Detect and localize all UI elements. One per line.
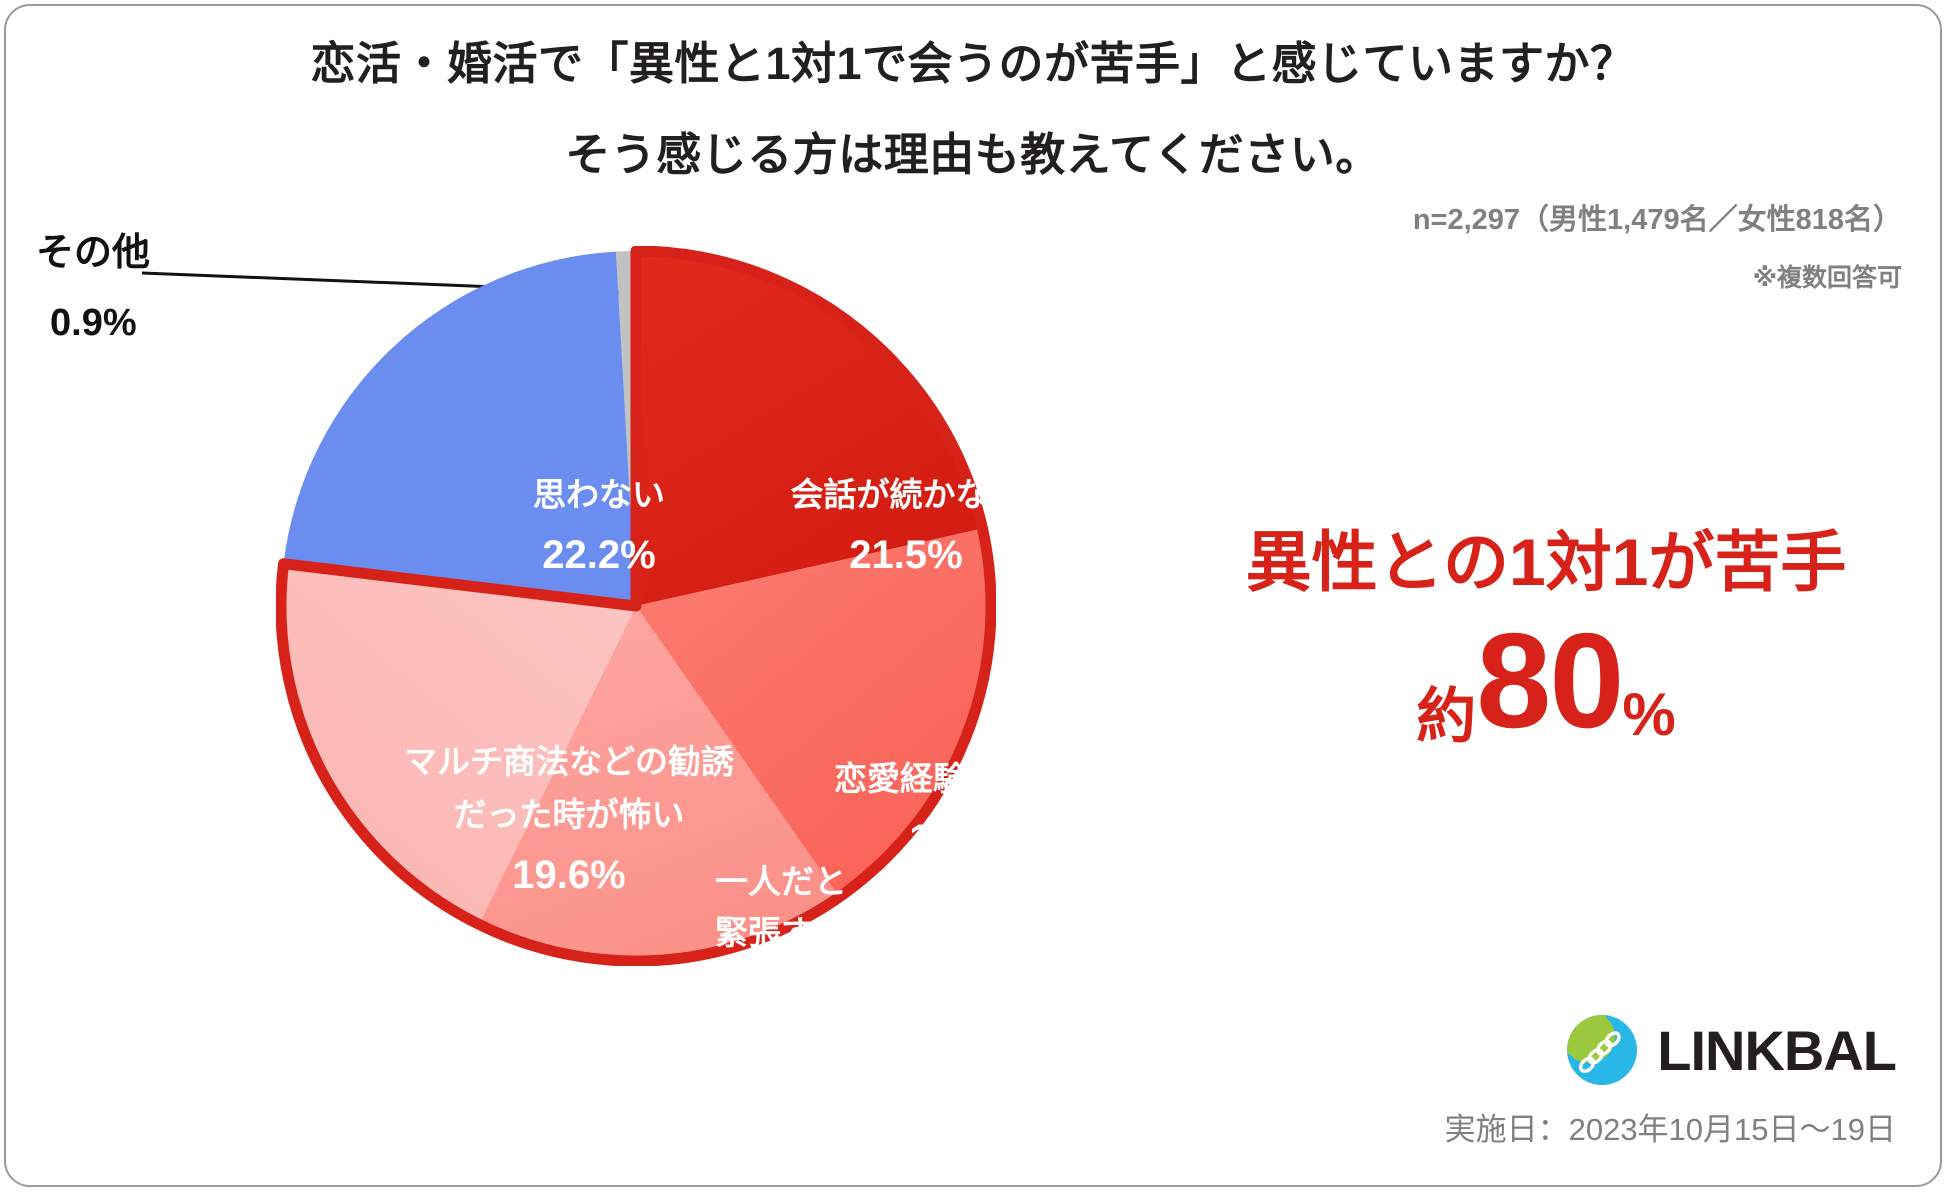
multiple-answer-note: ※複数回答可: [1753, 258, 1902, 294]
pie-slice-omowanai: [284, 252, 636, 606]
survey-date: 実施日：2023年10月15日～19日: [1445, 1104, 1896, 1149]
brand-logo: LINKBAL: [1565, 1013, 1896, 1087]
linkbal-globe-icon: [1565, 1013, 1639, 1087]
page-title: 恋活・婚活で「異性と1対1で会うのが苦手」と感じていますか？ そう感じる方は理由…: [6, 34, 1940, 186]
highlight-callout: 異性との1対1が苦手 約80%: [1146, 526, 1942, 748]
highlight-approx: 約: [1416, 683, 1476, 750]
highlight-callout-stat: 約80%: [1146, 613, 1942, 748]
brand-name: LINKBAL: [1657, 1018, 1896, 1083]
highlight-callout-headline: 異性との1対1が苦手: [1146, 526, 1942, 599]
pie-chart-svg: [276, 246, 996, 966]
infographic-frame: 恋活・婚活で「異性と1対1で会うのが苦手」と感じていますか？ そう感じる方は理由…: [4, 4, 1942, 1187]
highlight-value: 80: [1476, 605, 1622, 756]
title-line-2: そう感じる方は理由も教えてください。: [6, 125, 1940, 186]
slice-label-hitori-pct: 17.0%: [666, 967, 896, 1019]
sample-size-note: n=2,297（男性1,479名／女性818名）: [1413, 196, 1902, 238]
highlight-percent-sign: %: [1622, 681, 1675, 748]
title-line-1: 恋活・婚活で「異性と1対1で会うのが苦手」と感じていますか？: [6, 34, 1940, 95]
pie-chart: [276, 246, 996, 966]
